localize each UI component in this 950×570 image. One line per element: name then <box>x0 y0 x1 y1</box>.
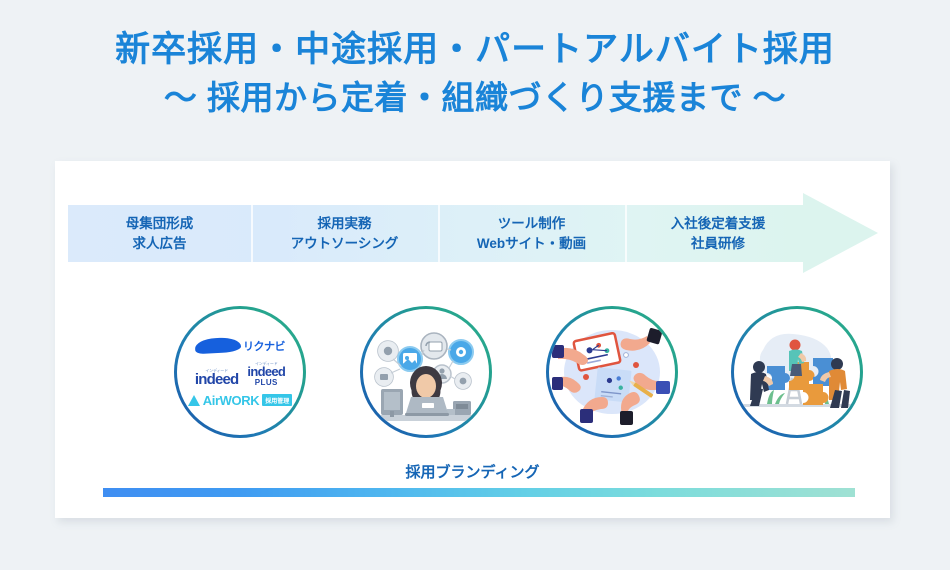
page-title: 新卒採用・中途採用・パートアルバイト採用 〜 採用から定着・組織づくり支援まで … <box>0 26 950 122</box>
flow-step-3-label-top: ツール制作 <box>498 214 566 234</box>
flow-step-2: 採用実務 アウトソーシング <box>251 205 438 262</box>
diagram-card: 母集団形成 求人広告 採用実務 アウトソーシング ツール制作 Webサイト・動画… <box>55 161 890 518</box>
hands-collaboration-icon <box>552 319 672 425</box>
puzzle-teamwork-icon <box>737 320 857 424</box>
flow-step-2-label-top: 採用実務 <box>318 214 372 234</box>
process-flow-arrow: 母集団形成 求人広告 採用実務 アウトソーシング ツール制作 Webサイト・動画… <box>68 205 878 262</box>
circle-job-advertising: リクナビ インディード indeed インディード indeed PLUS A <box>174 306 306 438</box>
indeed-logo-text: indeed <box>195 372 239 387</box>
airwork-logo-text: AirWORK <box>203 394 259 407</box>
rikunabi-logo-text: リクナビ <box>243 338 285 354</box>
flow-step-3: ツール制作 Webサイト・動画 <box>438 205 625 262</box>
page-title-line-2: 〜 採用から定着・組織づくり支援まで 〜 <box>0 74 950 122</box>
flow-step-1: 母集団形成 求人広告 <box>68 205 251 262</box>
flow-step-1-label-top: 母集団形成 <box>126 214 194 234</box>
flow-step-3-label-bottom: Webサイト・動画 <box>477 234 586 254</box>
circle-retention-training <box>731 306 863 438</box>
airwork-logo: AirWORK 採用管理 <box>188 394 292 407</box>
branding-label: 採用ブランディング <box>55 461 890 482</box>
flow-step-1-label-bottom: 求人広告 <box>133 234 187 254</box>
page-title-line-1: 新卒採用・中途採用・パートアルバイト採用 <box>0 26 950 74</box>
arrow-head-icon <box>803 193 878 273</box>
logo-stack-icon: リクナビ インディード indeed インディード indeed PLUS A <box>184 338 296 407</box>
flow-step-2-label-bottom: アウトソーシング <box>291 234 399 254</box>
airwork-badge: 採用管理 <box>262 394 292 406</box>
branding-gradient-bar <box>103 488 855 497</box>
flow-step-4-label-bottom: 社員研修 <box>691 234 745 254</box>
circle-recruiting-operations <box>360 306 492 438</box>
indeed-plus-logo-sub: PLUS <box>255 378 278 387</box>
airwork-triangle-icon <box>188 395 200 406</box>
circle-tool-production <box>546 306 678 438</box>
rikunabi-leaf-icon <box>195 337 242 354</box>
flow-step-4-label-top: 入社後定着支援 <box>671 214 766 234</box>
flow-step-4: 入社後定着支援 社員研修 <box>625 205 811 262</box>
indeed-plus-logo: インディード indeed PLUS <box>247 361 285 387</box>
service-circles: リクナビ インディード indeed インディード indeed PLUS A <box>55 306 890 446</box>
indeed-logos-row: インディード indeed インディード indeed PLUS <box>195 361 285 387</box>
operator-at-desk-icon <box>367 319 485 425</box>
indeed-logo: インディード indeed <box>195 368 239 387</box>
indeed-plus-logo-text: indeed <box>247 365 285 378</box>
rikunabi-logo: リクナビ <box>195 338 285 354</box>
